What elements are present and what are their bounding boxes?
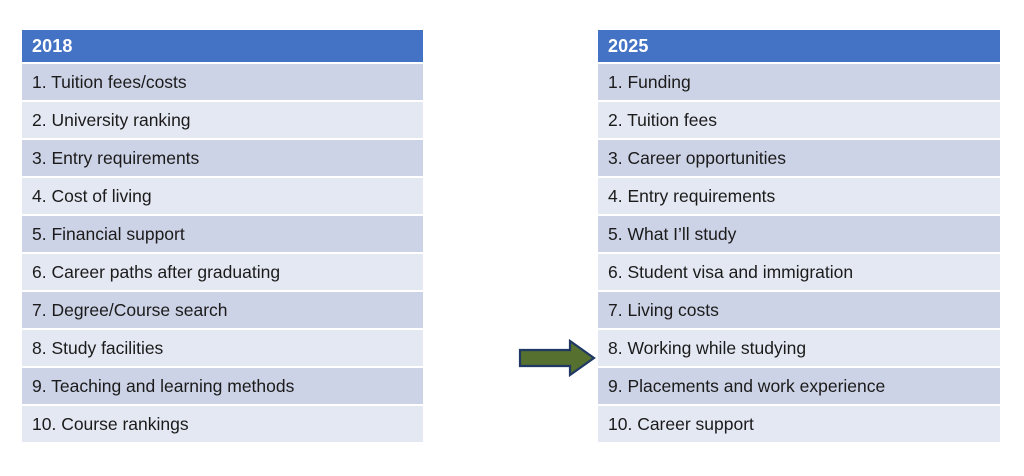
table-row: 5. What I’ll study — [598, 216, 1000, 252]
table-row: 10. Career support — [598, 406, 1000, 442]
table-row: 6. Career paths after graduating — [22, 254, 423, 290]
table-rows-2025: 1. Funding 2. Tuition fees 3. Career opp… — [598, 64, 1000, 442]
table-rows-2018: 1. Tuition fees/costs 2. University rank… — [22, 64, 423, 442]
table-header-2018: 2018 — [22, 30, 423, 62]
table-row: 8. Working while studying — [598, 330, 1000, 366]
slide-canvas: 2018 1. Tuition fees/costs 2. University… — [0, 0, 1024, 476]
table-row: 8. Study facilities — [22, 330, 423, 366]
table-row: 3. Entry requirements — [22, 140, 423, 176]
table-row: 7. Living costs — [598, 292, 1000, 328]
table-row: 1. Funding — [598, 64, 1000, 100]
table-row: 2. Tuition fees — [598, 102, 1000, 138]
priorities-table-2025: 2025 1. Funding 2. Tuition fees 3. Caree… — [598, 30, 1000, 442]
table-row: 5. Financial support — [22, 216, 423, 252]
table-row: 6. Student visa and immigration — [598, 254, 1000, 290]
table-row: 4. Entry requirements — [598, 178, 1000, 214]
table-row: 4. Cost of living — [22, 178, 423, 214]
table-row: 3. Career opportunities — [598, 140, 1000, 176]
priorities-table-2018: 2018 1. Tuition fees/costs 2. University… — [22, 30, 423, 442]
table-header-2025: 2025 — [598, 30, 1000, 62]
table-row: 10. Course rankings — [22, 406, 423, 442]
table-row: 9. Placements and work experience — [598, 368, 1000, 404]
table-row: 2. University ranking — [22, 102, 423, 138]
table-row: 9. Teaching and learning methods — [22, 368, 423, 404]
table-row: 1. Tuition fees/costs — [22, 64, 423, 100]
table-row: 7. Degree/Course search — [22, 292, 423, 328]
right-arrow-icon — [518, 339, 596, 377]
